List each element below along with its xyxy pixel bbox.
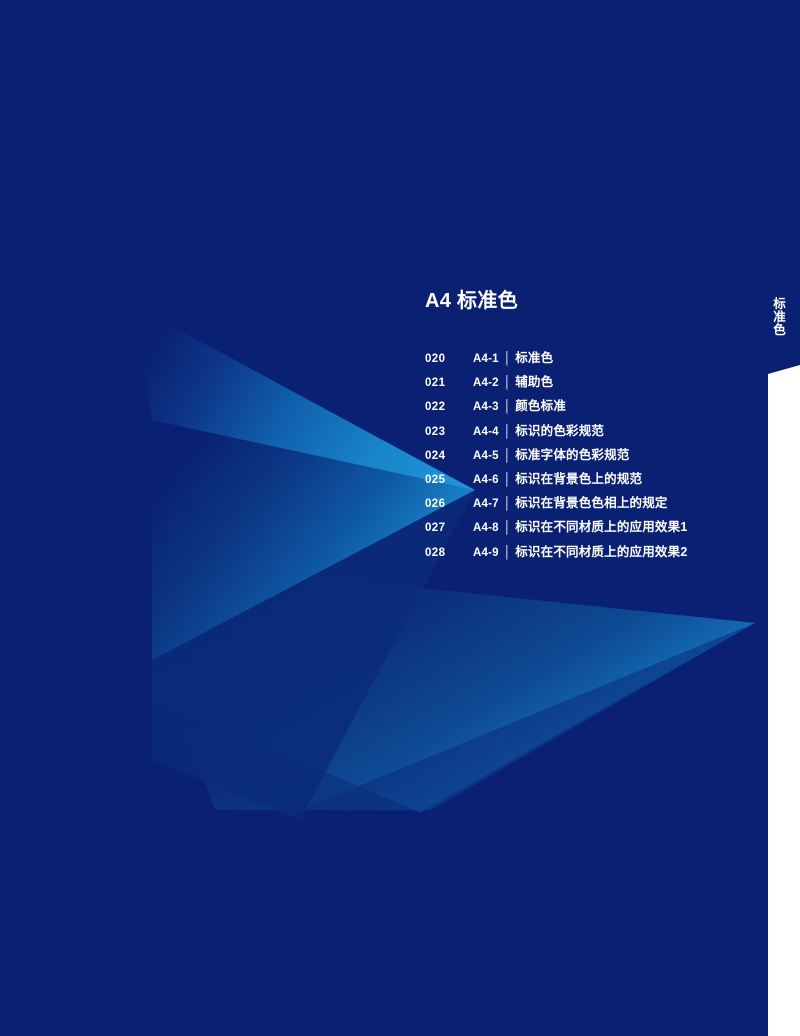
- toc-entry[interactable]: 021A4-2│辅助色: [425, 371, 755, 395]
- toc-entry-separator: │: [499, 399, 516, 413]
- toc-entry-label: 标识在背景色上的规范: [515, 468, 642, 487]
- toc-entry-code: A4-8: [473, 522, 499, 534]
- table-of-contents: 020A4-1│标准色021A4-2│辅助色022A4-3│颜色标准023A4-…: [425, 347, 755, 565]
- toc-entry[interactable]: 024A4-5│标准字体的色彩规范: [425, 444, 755, 468]
- toc-entry-separator: │: [499, 424, 516, 438]
- toc-entry[interactable]: 020A4-1│标准色: [425, 347, 755, 371]
- toc-entry-label: 标识在背景色色相上的规定: [515, 492, 667, 511]
- toc-entry-code: A4-2: [473, 377, 499, 389]
- toc-entry-separator: │: [499, 351, 516, 365]
- page-title: A4 标准色: [425, 290, 755, 312]
- toc-entry-number: 021: [425, 377, 473, 389]
- toc-entry-number: 022: [425, 401, 473, 413]
- toc-entry-code: A4-3: [473, 401, 499, 413]
- toc-entry-number: 024: [425, 450, 473, 462]
- toc-entry-separator: │: [499, 375, 516, 389]
- toc-entry-number: 028: [425, 547, 473, 559]
- toc-entry-number: 027: [425, 522, 473, 534]
- toc-entry-separator: │: [499, 520, 516, 534]
- toc-entry-label: 标识的色彩规范: [515, 420, 604, 439]
- toc-entry-code: A4-1: [473, 353, 499, 365]
- toc-entry-code: A4-4: [473, 426, 499, 438]
- side-tab-label: 标准色: [764, 297, 786, 336]
- toc-entry-number: 025: [425, 474, 473, 486]
- toc-entry-label: 标识在不同材质上的应用效果2: [515, 541, 687, 560]
- toc-entry-code: A4-5: [473, 450, 499, 462]
- brand-guideline-section-cover: 标准色 A4 标准色 020A4-1│标准色021A4-2│辅助色022A4-3…: [0, 0, 800, 1036]
- toc-entry-label: 标识在不同材质上的应用效果1: [515, 516, 687, 535]
- toc-entry[interactable]: 022A4-3│颜色标准: [425, 395, 755, 419]
- toc-entry[interactable]: 028A4-9│标识在不同材质上的应用效果2: [425, 541, 755, 565]
- toc-entry[interactable]: 023A4-4│标识的色彩规范: [425, 420, 755, 444]
- toc-entry-code: A4-6: [473, 474, 499, 486]
- toc-entry-code: A4-7: [473, 498, 499, 510]
- toc-entry-separator: │: [499, 496, 516, 510]
- toc-entry-label: 辅助色: [515, 371, 553, 390]
- toc-entry-separator: │: [499, 545, 516, 559]
- toc-entry-separator: │: [499, 472, 516, 486]
- toc-entry-number: 020: [425, 353, 473, 365]
- section-content: A4 标准色 020A4-1│标准色021A4-2│辅助色022A4-3│颜色标…: [425, 290, 755, 565]
- toc-entry[interactable]: 025A4-6│标识在背景色上的规范: [425, 468, 755, 492]
- toc-entry-label: 标准字体的色彩规范: [515, 444, 629, 463]
- toc-entry-number: 023: [425, 426, 473, 438]
- toc-entry-label: 颜色标准: [515, 395, 566, 414]
- toc-entry-label: 标准色: [515, 347, 553, 366]
- toc-entry[interactable]: 027A4-8│标识在不同材质上的应用效果1: [425, 516, 755, 540]
- toc-entry-separator: │: [499, 448, 516, 462]
- toc-entry-code: A4-9: [473, 547, 499, 559]
- toc-entry-number: 026: [425, 498, 473, 510]
- toc-entry[interactable]: 026A4-7│标识在背景色色相上的规定: [425, 492, 755, 516]
